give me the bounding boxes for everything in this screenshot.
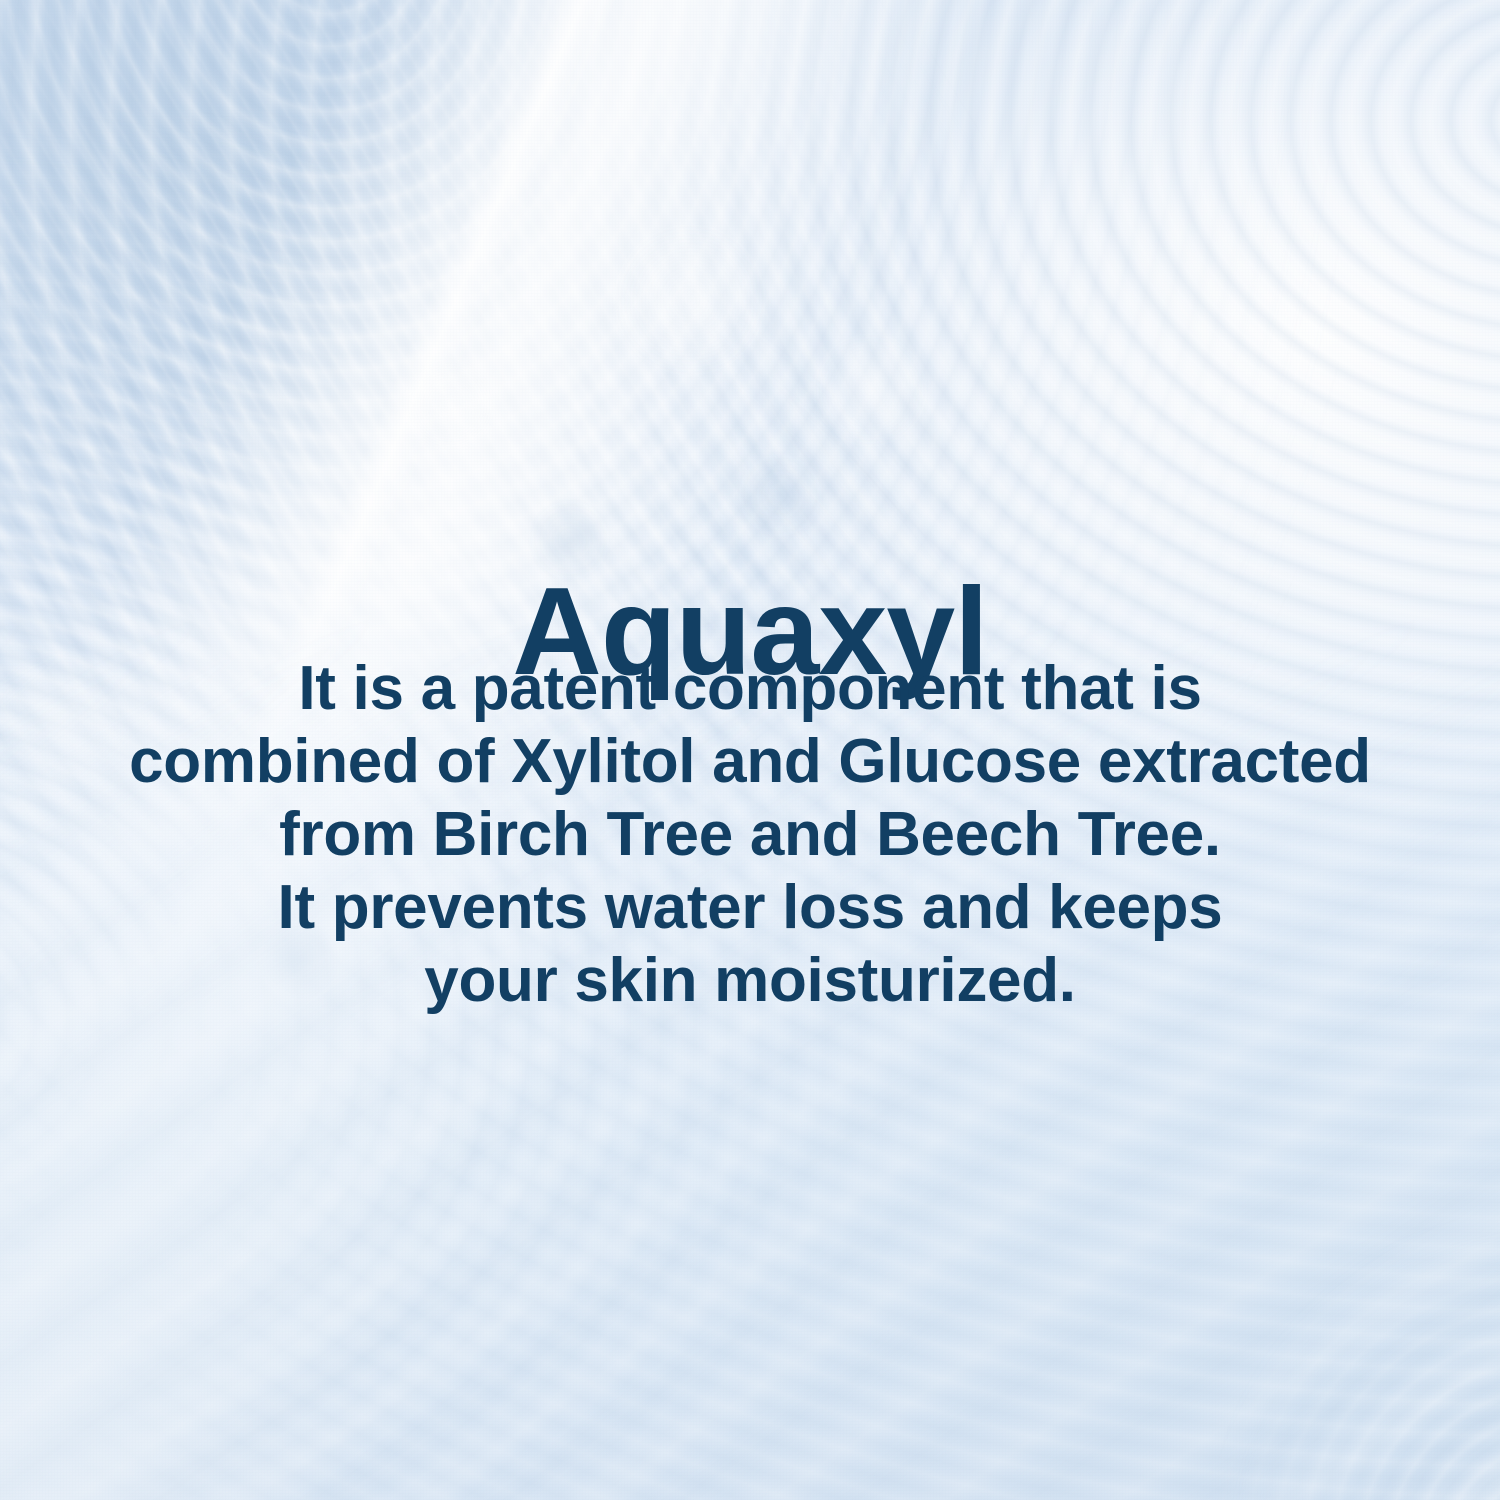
description-line: It is a patent component that is	[0, 652, 1500, 725]
ingredient-description: It is a patent component that is combine…	[0, 652, 1500, 1017]
description-line: your skin moisturized.	[0, 944, 1500, 1017]
description-line: It prevents water loss and keeps	[0, 871, 1500, 944]
product-ingredient-card: Aquaxyl It is a patent component that is…	[0, 0, 1500, 1500]
description-line: from Birch Tree and Beech Tree.	[0, 798, 1500, 871]
description-line: combined of Xylitol and Glucose extracte…	[0, 725, 1500, 798]
